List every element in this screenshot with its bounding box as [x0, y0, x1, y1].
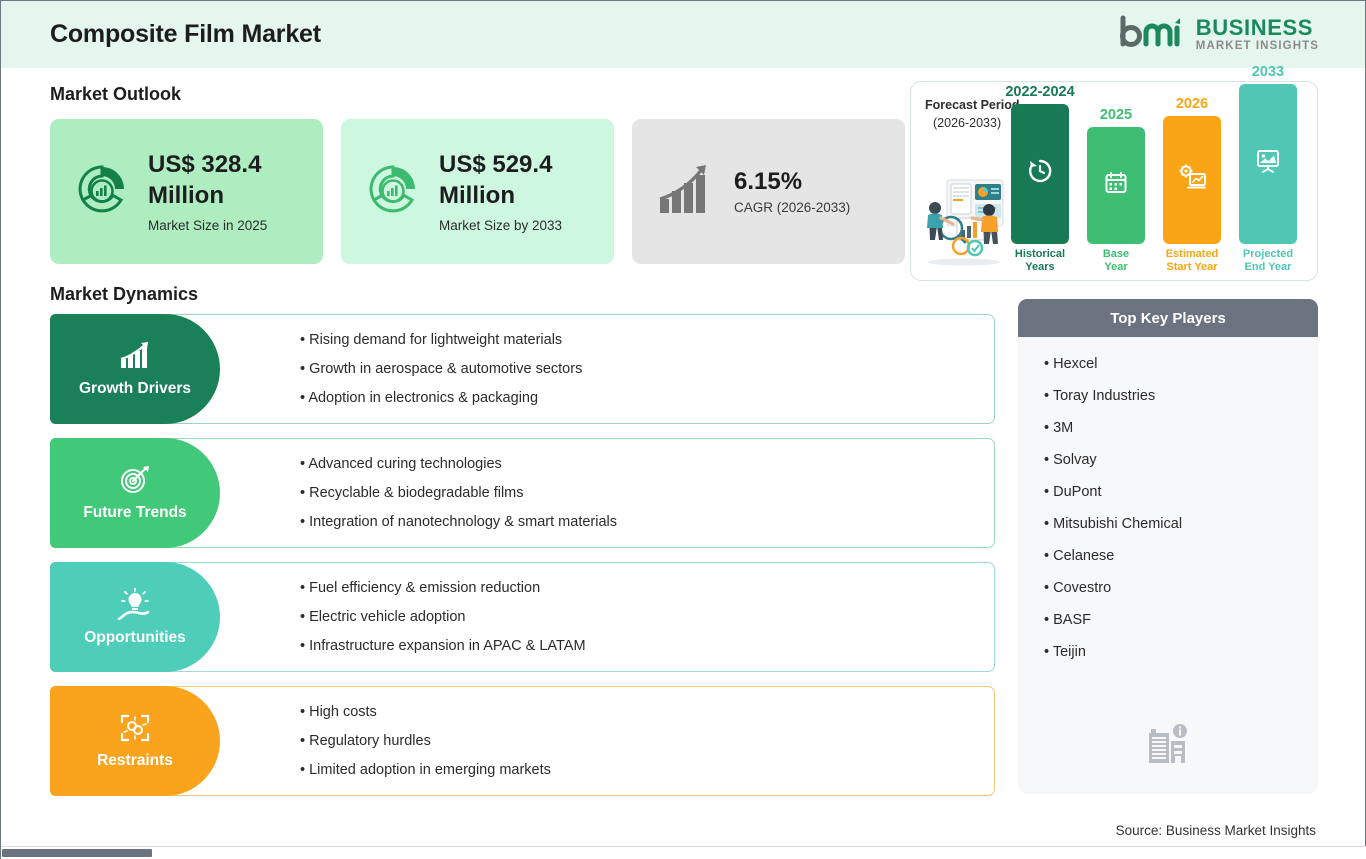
key-players-title: Top Key Players [1018, 299, 1318, 337]
dynamics-row-future-trends: Future Trends Advanced curing technologi… [50, 438, 995, 548]
forecast-bar-caption: Base Year [1103, 248, 1129, 274]
dynamics-tab-label: Restraints [97, 752, 173, 770]
horizontal-scrollbar[interactable] [1, 846, 1366, 859]
list-item: Hexcel [1044, 356, 1318, 372]
dynamics-point: Recyclable & biodegradable films [300, 485, 994, 501]
dynamics-point: Infrastructure expansion in APAC & LATAM [300, 638, 994, 654]
list-item: DuPont [1044, 484, 1318, 500]
dynamics-point: Rising demand for lightweight materials [300, 332, 994, 348]
cagr-value: 6.15% [734, 168, 850, 196]
cagr-caption: CAGR (2026-2033) [734, 200, 850, 215]
outlook-card-caption: Market Size by 2033 [439, 218, 562, 233]
target-dart-icon [119, 465, 151, 500]
source-label: Source: Business Market Insights [1116, 823, 1316, 838]
caption-line-1: Base [1103, 248, 1129, 260]
market-outlook-heading: Market Outlook [50, 84, 181, 105]
forecast-bar-projected: 2033 Projected End Year [1239, 64, 1297, 274]
dynamics-tab-restraints[interactable]: Restraints [50, 686, 220, 796]
forecast-bar-year: 2022-2024 [1005, 84, 1074, 100]
dynamics-tab-growth-drivers[interactable]: Growth Drivers [50, 314, 220, 424]
infographic-page: Composite Film Market BUSINESS MARKET IN… [0, 0, 1366, 859]
dynamics-tab-label: Growth Drivers [79, 380, 191, 398]
list-item: Celanese [1044, 548, 1318, 564]
outlook-card-cagr: 6.15% CAGR (2026-2033) [632, 119, 905, 264]
dynamics-tab-opportunities[interactable]: Opportunities [50, 562, 220, 672]
forecast-bars: 2022-2024 Historical Years 2 [1011, 82, 1317, 282]
market-dynamics-list: Growth Drivers Rising demand for lightwe… [50, 314, 995, 810]
caption-line-1: Historical [1015, 248, 1065, 260]
outlook-card-value: US$ 529.4 [439, 150, 562, 181]
list-item: Teijin [1044, 644, 1318, 660]
dynamics-point: Advanced curing technologies [300, 456, 994, 472]
forecast-bar-historical: 2022-2024 Historical Years [1011, 84, 1069, 274]
list-item: Covestro [1044, 580, 1318, 596]
caption-line-2: End Year [1245, 261, 1292, 273]
forecast-label-text: Forecast Period [925, 98, 1019, 112]
forecast-bar-rect [1163, 116, 1221, 244]
key-players-footer-icon [1018, 721, 1318, 772]
forecast-bar-caption: Historical Years [1015, 248, 1065, 274]
forecast-bar-rect [1087, 127, 1145, 244]
forecast-bar-caption: Estimated Start Year [1166, 248, 1219, 274]
logo-line-1: BUSINESS [1196, 17, 1319, 39]
logo-wordmark: BUSINESS MARKET INSIGHTS [1196, 17, 1319, 53]
key-players-list: Hexcel Toray Industries 3M Solvay DuPont… [1018, 337, 1318, 660]
dynamics-row-opportunities: Opportunities Fuel efficiency & emission… [50, 562, 995, 672]
dynamics-point: Electric vehicle adoption [300, 609, 994, 625]
settings-growth-icon [1178, 164, 1206, 195]
dynamics-points: High costs Regulatory hurdles Limited ad… [220, 687, 994, 795]
list-item: Toray Industries [1044, 388, 1318, 404]
forecast-bar-estimated: 2026 Estimated [1163, 96, 1221, 274]
company-building-info-icon [1145, 721, 1191, 772]
forecast-bar-base: 2025 [1087, 107, 1145, 274]
dynamics-point: Adoption in electronics & packaging [300, 390, 994, 406]
caption-line-2: Start Year [1166, 261, 1217, 273]
dynamics-point: Limited adoption in emerging markets [300, 762, 994, 778]
outlook-card-text: US$ 529.4 Million Market Size by 2033 [439, 150, 562, 233]
growth-arrow-bars-icon [118, 341, 152, 376]
forecast-period-panel: Forecast Period (2026-2033) [910, 81, 1318, 281]
dynamics-tab-label: Future Trends [83, 504, 186, 522]
forecast-bar-rect [1239, 84, 1297, 244]
brand-logo: BUSINESS MARKET INSIGHTS [1117, 14, 1319, 55]
list-item: Solvay [1044, 452, 1318, 468]
outlook-card-caption: Market Size in 2025 [148, 218, 267, 233]
market-outlook-cards: US$ 328.4 Million Market Size in 2025 US… [50, 119, 905, 264]
dynamics-point: Growth in aerospace & automotive sectors [300, 361, 994, 377]
forecast-period-label: Forecast Period (2026-2033) [925, 96, 1019, 132]
list-item: 3M [1044, 420, 1318, 436]
outlook-card-market-size-2025: US$ 328.4 Million Market Size in 2025 [50, 119, 323, 264]
scrollbar-thumb[interactable] [2, 849, 152, 857]
lightbulb-hand-icon [117, 588, 153, 625]
caption-line-2: Years [1025, 261, 1054, 273]
forecast-bar-caption: Projected End Year [1243, 248, 1293, 274]
list-item: BASF [1044, 612, 1318, 628]
market-dynamics-heading: Market Dynamics [50, 284, 198, 305]
forecast-bar-year: 2026 [1176, 96, 1208, 112]
dynamics-tab-label: Opportunities [84, 629, 186, 647]
outlook-card-value: US$ 328.4 [148, 150, 267, 181]
dynamics-points: Rising demand for lightweight materials … [220, 315, 994, 423]
outlook-card-value-unit: Million [148, 181, 267, 212]
caption-line-1: Estimated [1166, 248, 1219, 260]
presentation-chart-icon [1255, 148, 1281, 179]
forecast-bar-year: 2025 [1100, 107, 1132, 123]
list-item: Mitsubishi Chemical [1044, 516, 1318, 532]
caption-line-2: Year [1104, 261, 1127, 273]
dynamics-point: Regulatory hurdles [300, 733, 994, 749]
team-analytics-illustration [917, 174, 1011, 271]
calendar-icon [1104, 171, 1128, 200]
restraint-brackets-icon [119, 713, 151, 748]
forecast-years-text: (2026-2033) [925, 114, 1019, 132]
dynamics-point: Integration of nanotechnology & smart ma… [300, 514, 994, 530]
donut-chart-icon [365, 161, 421, 222]
donut-chart-icon [74, 161, 130, 222]
forecast-bar-rect [1011, 104, 1069, 244]
outlook-card-value-unit: Million [439, 181, 562, 212]
dynamics-points: Fuel efficiency & emission reduction Ele… [220, 563, 994, 671]
caption-line-1: Projected [1243, 248, 1293, 260]
outlook-card-text: US$ 328.4 Million Market Size in 2025 [148, 150, 267, 233]
bmi-logo-icon [1117, 14, 1185, 55]
growth-bar-chart-icon [656, 161, 716, 222]
page-header: Composite Film Market BUSINESS MARKET IN… [1, 1, 1365, 68]
forecast-bar-year: 2033 [1252, 64, 1284, 80]
outlook-card-market-size-2033: US$ 529.4 Million Market Size by 2033 [341, 119, 614, 264]
page-title: Composite Film Market [50, 20, 321, 49]
dynamics-point: High costs [300, 704, 994, 720]
dynamics-row-restraints: Restraints High costs Regulatory hurdles… [50, 686, 995, 796]
dynamics-points: Advanced curing technologies Recyclable … [220, 439, 994, 547]
top-key-players-panel: Top Key Players Hexcel Toray Industries … [1018, 299, 1318, 794]
outlook-card-text: 6.15% CAGR (2026-2033) [734, 168, 850, 215]
dynamics-row-growth-drivers: Growth Drivers Rising demand for lightwe… [50, 314, 995, 424]
logo-line-2: MARKET INSIGHTS [1196, 41, 1319, 53]
history-clock-icon [1027, 158, 1053, 189]
dynamics-tab-future-trends[interactable]: Future Trends [50, 438, 220, 548]
dynamics-point: Fuel efficiency & emission reduction [300, 580, 994, 596]
